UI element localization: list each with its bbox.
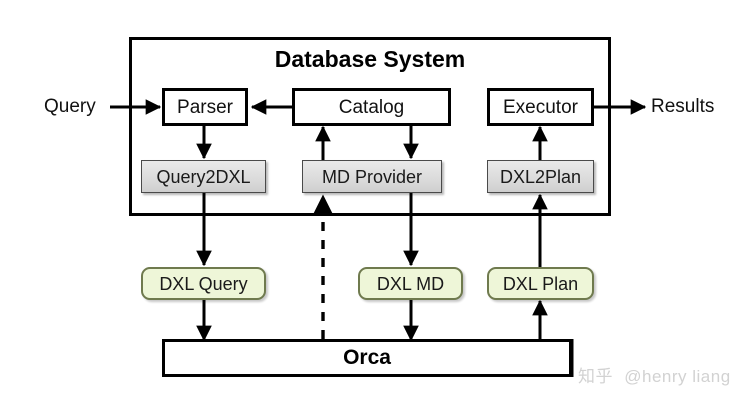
node-dxl-plan-label: DXL Plan xyxy=(503,275,578,293)
node-md-provider[interactable]: MD Provider xyxy=(302,160,442,193)
node-query2dxl[interactable]: Query2DXL xyxy=(141,160,266,193)
node-orca-label: Orca xyxy=(343,346,391,370)
watermark-handle: @henry liang xyxy=(624,367,730,386)
node-query2dxl-label: Query2DXL xyxy=(156,168,250,186)
node-md-provider-label: MD Provider xyxy=(322,168,422,186)
watermark: 知乎 @henry liang xyxy=(578,362,731,387)
node-orca[interactable]: Orca xyxy=(162,339,572,377)
node-parser-label: Parser xyxy=(177,98,233,117)
node-catalog[interactable]: Catalog xyxy=(292,88,451,126)
node-parser[interactable]: Parser xyxy=(162,88,248,126)
output-label-results: Results xyxy=(651,96,714,118)
diagram-canvas: Database System Query Results Parser Cat… xyxy=(0,0,736,416)
node-dxl-query[interactable]: DXL Query xyxy=(141,267,266,300)
node-dxl-md[interactable]: DXL MD xyxy=(358,267,463,300)
node-dxl-query-label: DXL Query xyxy=(159,275,247,293)
watermark-site: 知乎 xyxy=(578,367,613,387)
node-executor-label: Executor xyxy=(503,98,578,117)
node-dxl2plan[interactable]: DXL2Plan xyxy=(487,160,594,193)
node-catalog-label: Catalog xyxy=(339,98,405,117)
node-dxl-plan[interactable]: DXL Plan xyxy=(487,267,594,300)
page-title: Database System xyxy=(129,46,611,73)
node-executor[interactable]: Executor xyxy=(487,88,594,126)
node-dxl2plan-label: DXL2Plan xyxy=(500,168,581,186)
node-dxl-md-label: DXL MD xyxy=(377,275,444,293)
input-label-query: Query xyxy=(44,96,96,118)
